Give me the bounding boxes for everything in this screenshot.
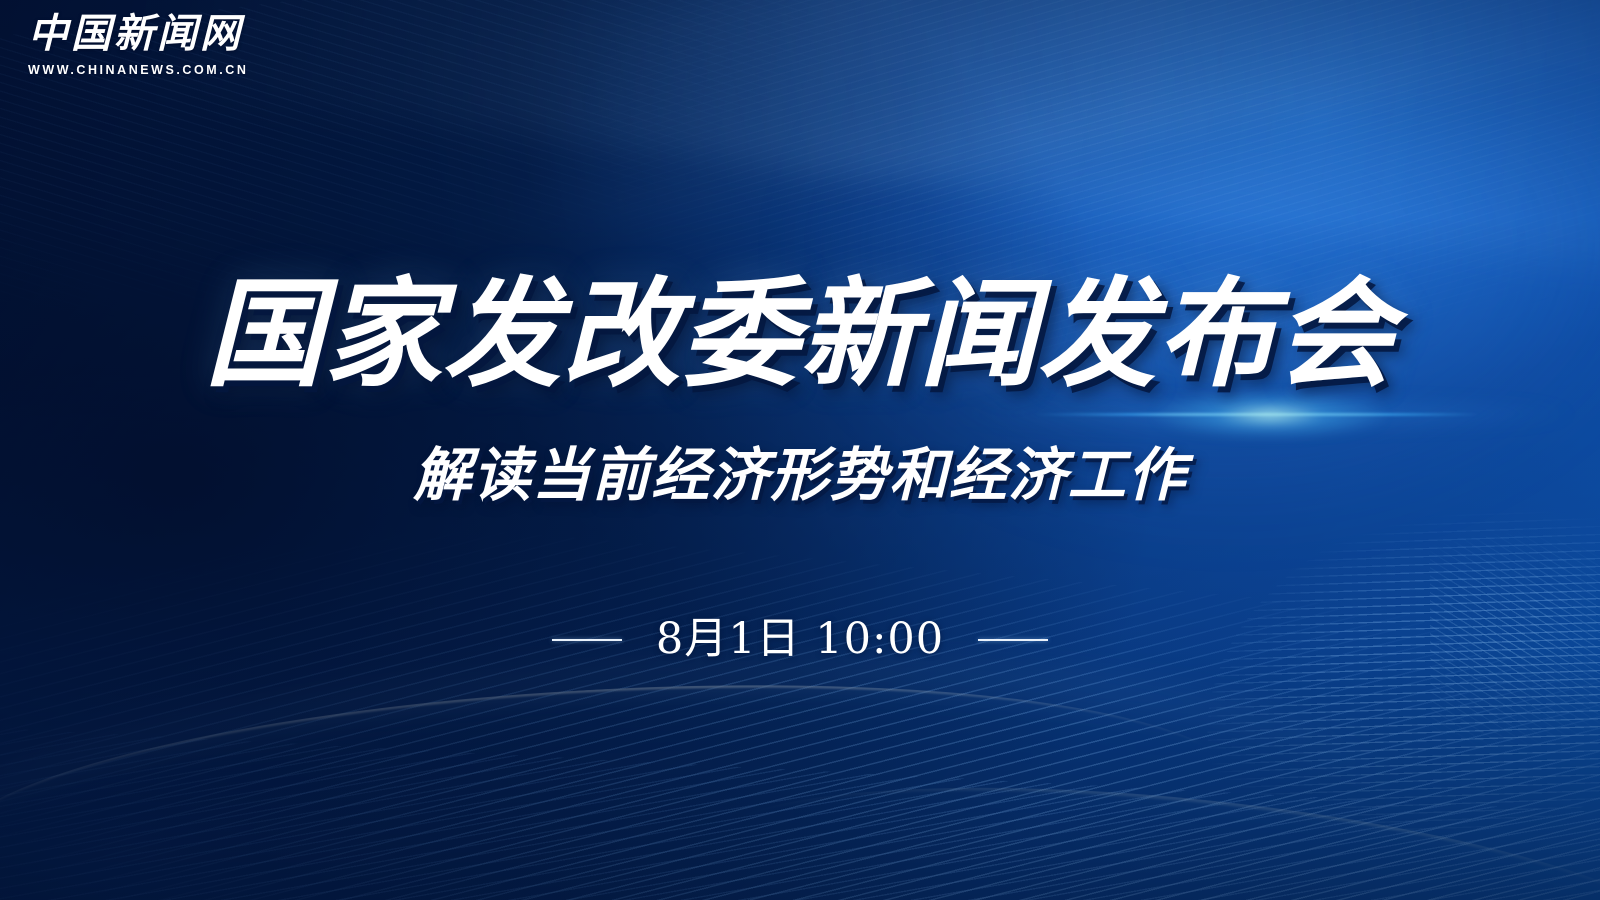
poster-subtitle: 解读当前经济形势和经济工作 — [0, 444, 1600, 508]
poster-dateline: 8月1日 10:00 — [0, 618, 1600, 661]
poster-title: 国家发改委新闻发布会 — [0, 272, 1600, 397]
dateline-rule-left — [552, 639, 622, 641]
dateline-datetime: 8月1日 10:00 — [656, 618, 944, 661]
poster-content: 国家发改委新闻发布会 解读当前经济形势和经济工作 8月1日 10:00 — [0, 0, 1600, 900]
news-conference-poster: 中国新闻网 WWW.CHINANEWS.COM.CN 国家发改委新闻发布会 解读… — [0, 0, 1600, 900]
dateline-rule-right — [978, 639, 1048, 641]
